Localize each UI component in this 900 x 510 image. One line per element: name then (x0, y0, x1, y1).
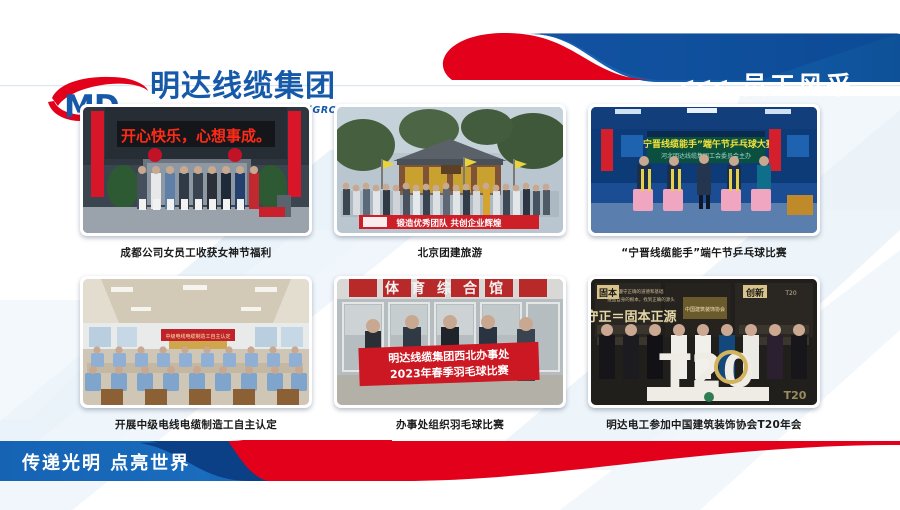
svg-text:中国建筑装饰协会: 中国建筑装饰协会 (685, 306, 725, 313)
photo-beijing-team-building: 锻造优秀团队 共创企业辉煌 (337, 107, 563, 233)
photo-chengdu-womens-day: 开心快乐，心想事成。 (83, 107, 309, 233)
svg-text:遵守正确的道德和基础: 遵守正确的道德和基础 (619, 288, 664, 295)
photo-caption: “宁晋线缆能手”端午节乒乓球比赛 (588, 245, 820, 260)
svg-text:T20: T20 (784, 290, 796, 297)
photo-frame[interactable]: 开心快乐，心想事成。 (80, 104, 312, 236)
photo-frame[interactable]: 固本 遵守正确的道德和基础 维固自身的根本，找到正确的源头 守正＝固本正源 创新… (588, 276, 820, 408)
photo-caption: 办事处组织羽毛球比赛 (334, 417, 566, 432)
gallery-card-badminton-match[interactable]: 体育综合馆 (334, 276, 566, 432)
gallery-row: 中级电线电缆制造工自主认定 (0, 276, 900, 432)
svg-text:守正＝固本正源: 守正＝固本正源 (591, 309, 677, 325)
gallery-card-ningjin-pingpong[interactable]: “宁晋线缆能手”端午节乒乓球大赛 河北明达线缆集团工会委员会主办 (588, 104, 820, 260)
photo-caption: 开展中级电线电缆制造工自主认定 (80, 417, 312, 432)
photo-gallery: 开心快乐，心想事成。 (0, 104, 900, 432)
page-header: MD 明达线缆集团 MINGDA WIRE AND CABLE (GROUP) … (0, 28, 900, 88)
photo-frame[interactable]: 体育综合馆 (334, 276, 566, 408)
svg-text:维固自身的根本，找到正确的源头: 维固自身的根本，找到正确的源头 (607, 296, 675, 303)
logo-text-cn: 明达线缆集团 (150, 70, 336, 104)
photo-cable-manufacturing-certification: 中级电线电缆制造工自主认定 (83, 279, 309, 405)
svg-text:T20: T20 (784, 389, 807, 402)
svg-text:创新: 创新 (745, 287, 764, 299)
svg-text:锻造优秀团队 共创企业辉煌: 锻造优秀团队 共创企业辉煌 (397, 218, 502, 229)
photo-caption: 明达电工参加中国建筑装饰协会T20年会 (588, 417, 820, 432)
photo-frame[interactable]: 锻造优秀团队 共创企业辉煌 (334, 104, 566, 236)
photo-ningjin-pingpong: “宁晋线缆能手”端午节乒乓球大赛 河北明达线缆集团工会委员会主办 (591, 107, 817, 233)
gallery-row: 开心快乐，心想事成。 (0, 104, 900, 260)
svg-text:开心快乐，心想事成。: 开心快乐，心想事成。 (121, 127, 271, 145)
gallery-card-beijing-team-building[interactable]: 锻造优秀团队 共创企业辉煌 北京团建旅游 (334, 104, 566, 260)
photo-t20-annual-meeting: 固本 遵守正确的道德和基础 维固自身的根本，找到正确的源头 守正＝固本正源 创新… (591, 279, 817, 405)
footer-slogan: 传递光明 点亮世界 (22, 449, 190, 475)
photo-badminton-match: 体育综合馆 (337, 279, 563, 405)
gallery-card-cable-manufacturing-certification[interactable]: 中级电线电缆制造工自主认定 (80, 276, 312, 432)
gallery-card-t20-annual-meeting[interactable]: 固本 遵守正确的道德和基础 维固自身的根本，找到正确的源头 守正＝固本正源 创新… (588, 276, 820, 432)
page-title: 员工风采 (742, 73, 854, 98)
chevron-left-icon: <<< (679, 76, 730, 95)
photo-caption: 北京团建旅游 (334, 245, 566, 260)
page-footer: 传递光明 点亮世界 (0, 437, 900, 483)
svg-text:中级电线电缆制造工自主认定: 中级电线电缆制造工自主认定 (165, 333, 230, 340)
gallery-card-chengdu-womens-day[interactable]: 开心快乐，心想事成。 (80, 104, 312, 260)
photo-frame[interactable]: “宁晋线缆能手”端午节乒乓球大赛 河北明达线缆集团工会委员会主办 (588, 104, 820, 236)
section-title-group: <<< 员工风采 (679, 73, 854, 98)
slide-canvas: MD 明达线缆集团 MINGDA WIRE AND CABLE (GROUP) … (0, 0, 900, 510)
svg-text:“宁晋线缆能手”端午节乒乓球大赛: “宁晋线缆能手”端午节乒乓球大赛 (637, 138, 776, 150)
svg-text:T20: T20 (659, 344, 754, 398)
svg-text:体育综合馆: 体育综合馆 (385, 280, 515, 297)
photo-frame[interactable]: 中级电线电缆制造工自主认定 (80, 276, 312, 408)
photo-caption: 成都公司女员工收获女神节福利 (80, 245, 312, 260)
